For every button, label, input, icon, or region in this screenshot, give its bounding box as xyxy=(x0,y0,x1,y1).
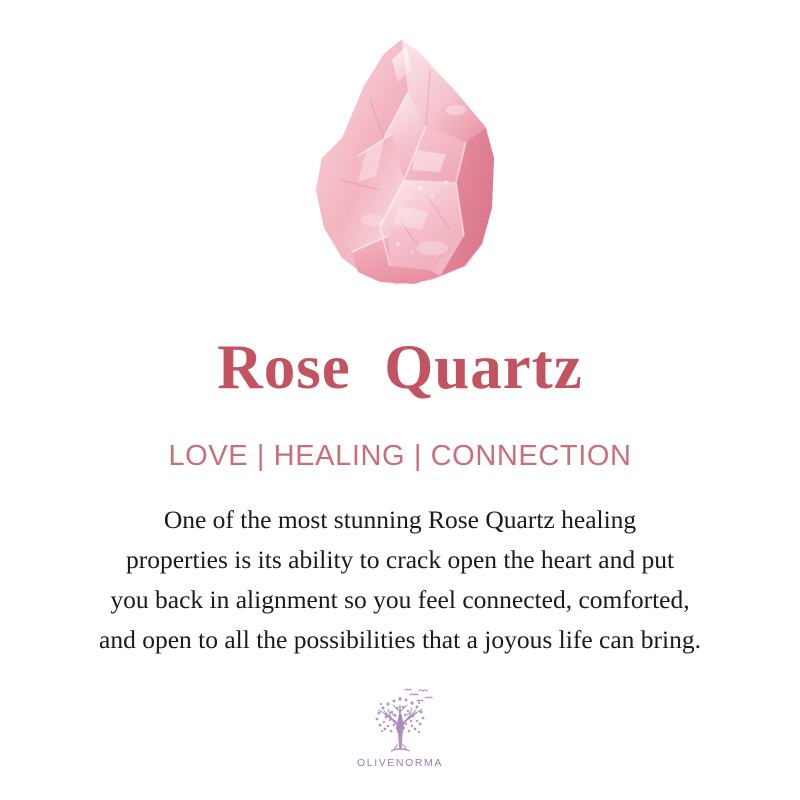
description-line: One of the most stunning Rose Quartz hea… xyxy=(30,500,770,540)
description-line: and open to all the possibilities that a… xyxy=(30,620,770,660)
brand-logo: OLIVENORMA xyxy=(0,684,800,769)
brand-wordmark: OLIVENORMA xyxy=(357,757,443,769)
promo-card: Rose Quartz LOVE | HEALING | CONNECTION … xyxy=(0,0,800,800)
page-title: Rose Quartz xyxy=(0,334,800,400)
description-line: you back in alignment so you feel connec… xyxy=(30,580,770,620)
hero-image-container xyxy=(0,30,800,305)
rose-quartz-crystal-image xyxy=(280,30,520,290)
keyword-subtitle: LOVE | HEALING | CONNECTION xyxy=(0,440,800,473)
description-line: properties is its ability to crack open … xyxy=(30,540,770,580)
tree-of-life-with-birds-icon xyxy=(361,684,439,756)
description-paragraph: One of the most stunning Rose Quartz hea… xyxy=(30,500,770,660)
